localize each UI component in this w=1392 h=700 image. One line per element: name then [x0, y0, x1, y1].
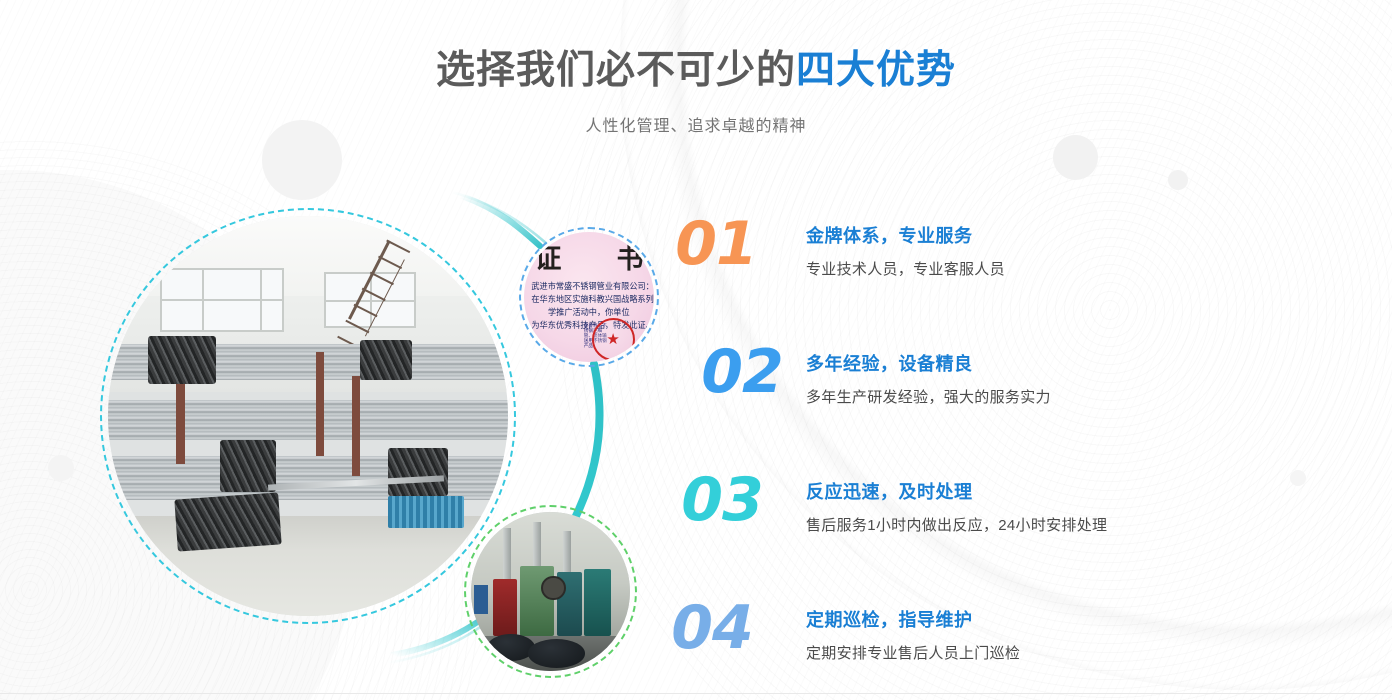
advantage-item-03: 03 反应迅速，及时处理 售后服务1小时内做出反应，24小时安排处理	[660, 466, 1360, 594]
warehouse-window-left	[160, 268, 284, 332]
machine-unit-teal-2	[584, 569, 611, 636]
advantage-text-03: 反应迅速，及时处理 售后服务1小时内做出反应，24小时安排处理	[806, 480, 1360, 537]
advantage-desc-03: 售后服务1小时内做出反应，24小时安排处理	[806, 515, 1360, 537]
advantage-text-02: 多年经验，设备精良 多年生产研发经验，强大的服务实力	[806, 352, 1360, 409]
machine-photo-art	[471, 512, 630, 671]
advantage-text-01: 金牌体系，专业服务 专业技术人员，专业客服人员	[806, 224, 1360, 281]
certificate-heading-left: 证	[534, 246, 561, 273]
certificate-heading: 证 书	[534, 246, 643, 273]
curve-certificate-to-machine	[576, 364, 600, 516]
advantage-desc-02: 多年生产研发经验，强大的服务实力	[806, 387, 1360, 409]
advantage-text-04: 定期巡检，指导维护 定期安排专业售后人员上门巡检	[806, 608, 1360, 665]
certificate-photo: 证 书 武进市常盛不锈钢管业有限公司： 在华东地区实施科教兴国战略系列科 学推广…	[524, 232, 654, 362]
warehouse-pipe-stack-3	[108, 456, 508, 500]
advantage-title-01: 金牌体系，专业服务	[806, 224, 1360, 248]
warehouse-pipe-stack-2	[108, 400, 508, 440]
warehouse-photo-art	[108, 216, 508, 616]
machine-blue-panel	[474, 585, 488, 614]
certificate-red-stamp: ★	[592, 318, 635, 361]
certificate-photo-art: 证 书 武进市常盛不锈钢管业有限公司： 在华东地区实施科教兴国战略系列科 学推广…	[524, 232, 654, 362]
advantage-number-03: 03	[666, 470, 778, 530]
certificate-heading-right: 书	[617, 246, 644, 273]
advantage-item-02: 02 多年经验，设备精良 多年生产研发经验，强大的服务实力	[660, 338, 1360, 466]
warehouse-pipe-bundle-4	[388, 448, 448, 496]
machine-dial	[541, 576, 566, 601]
warehouse-rack-beam-2	[316, 352, 324, 456]
warehouse-photo	[108, 216, 508, 616]
advantage-desc-01: 专业技术人员，专业客服人员	[806, 259, 1360, 281]
machine-unit-red	[493, 579, 517, 636]
warehouse-pipe-bundle-5	[174, 492, 281, 551]
warehouse-rack-beam-1	[176, 376, 185, 464]
certificate-stamp-star: ★	[606, 332, 619, 347]
warehouse-blue-crate	[388, 496, 464, 528]
machine-column-1	[503, 528, 511, 579]
warehouse-pipe-bundle-2	[360, 340, 412, 380]
certificate-line-1: 武进市常盛不锈钢管业有限公司：	[532, 281, 647, 292]
advantage-number-04: 04	[656, 598, 768, 658]
machine-pan-2	[528, 639, 585, 668]
advantage-item-01: 01 金牌体系，专业服务 专业技术人员，专业客服人员	[660, 210, 1360, 338]
advantage-title-02: 多年经验，设备精良	[806, 352, 1360, 376]
machine-photo	[471, 512, 630, 671]
warehouse-pipe-bundle-1	[148, 336, 216, 384]
certificate-line-3: 学推广活动中，你单位	[532, 307, 647, 318]
advantages-list: 01 金牌体系，专业服务 专业技术人员，专业客服人员 02 多年经验，设备精良 …	[660, 210, 1360, 700]
advantage-number-02: 02	[686, 342, 798, 402]
advantage-desc-04: 定期安排专业售后人员上门巡检	[806, 643, 1360, 665]
warehouse-rack-beam-3	[352, 376, 360, 476]
advantage-title-03: 反应迅速，及时处理	[806, 480, 1360, 504]
warehouse-floor	[108, 516, 508, 616]
advantages-section: 选择我们必不可少的四大优势 人性化管理、追求卓越的精神	[0, 0, 1392, 700]
advantage-number-01: 01	[660, 214, 772, 274]
advantage-item-04: 04 定期巡检，指导维护 定期安排专业售后人员上门巡检	[660, 594, 1360, 700]
certificate-line-2: 在华东地区实施科教兴国战略系列科	[532, 294, 647, 305]
advantage-title-04: 定期巡检，指导维护	[806, 608, 1360, 632]
